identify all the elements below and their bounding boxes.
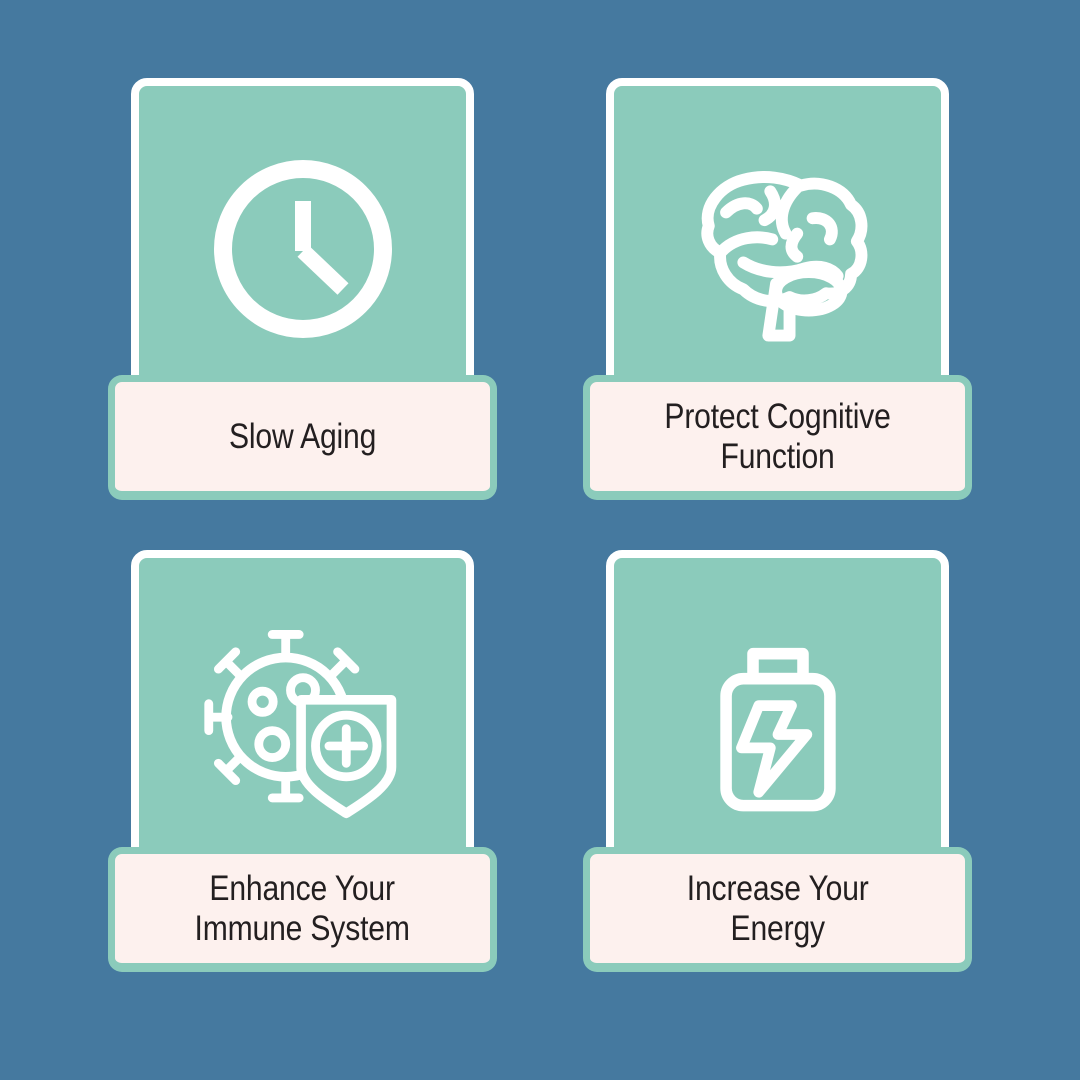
benefit-card-slow-aging[interactable]: Slow Aging [108, 78, 497, 500]
card-label-text: Enhance Your Immune System [190, 869, 416, 947]
benefit-card-enhance-immune-system[interactable]: Enhance Your Immune System [108, 550, 497, 972]
clock-icon [203, 149, 403, 349]
card-label: Increase Your Energy [583, 847, 972, 972]
benefits-board: Slow Aging [0, 0, 1080, 1080]
battery-lightning-icon [678, 621, 878, 821]
card-label: Slow Aging [108, 375, 497, 500]
virus-shield-icon [203, 621, 403, 821]
card-label-text: Increase Your Energy [681, 869, 873, 947]
card-label-text: Protect Cognitive Function [659, 397, 896, 475]
benefits-grid: Slow Aging [0, 0, 1080, 1080]
benefit-card-protect-cognitive-function[interactable]: Protect Cognitive Function [583, 78, 972, 500]
card-label: Enhance Your Immune System [108, 847, 497, 972]
brain-icon [678, 149, 878, 349]
card-label: Protect Cognitive Function [583, 375, 972, 500]
benefit-card-increase-energy[interactable]: Increase Your Energy [583, 550, 972, 972]
card-label-text: Slow Aging [224, 417, 382, 456]
